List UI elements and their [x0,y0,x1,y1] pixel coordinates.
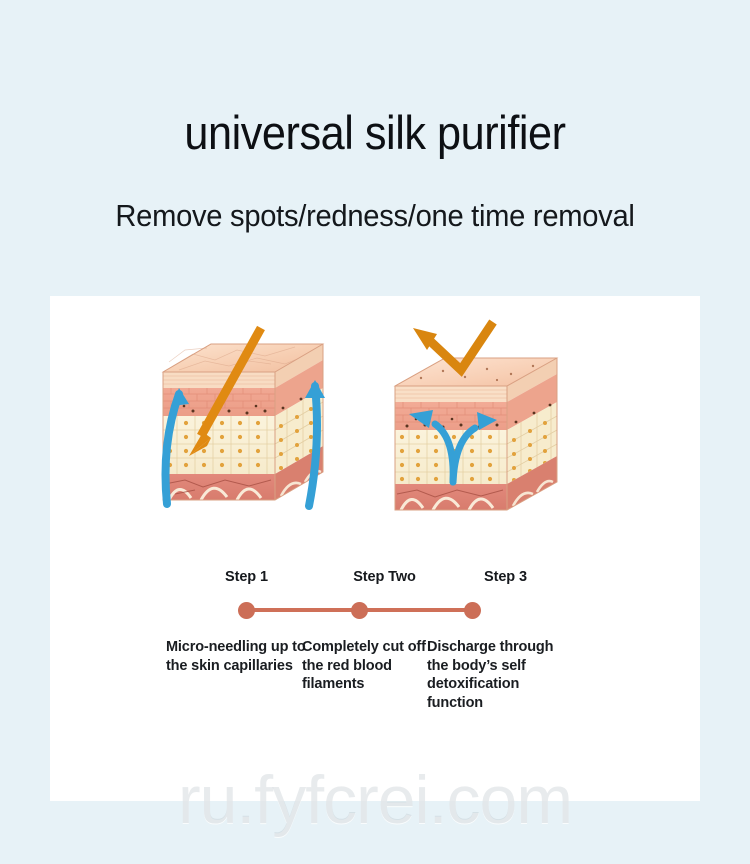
step-description-3: Discharge through the body’s self detoxi… [427,638,570,712]
steps-timeline: Step 1 Micro-needling up to the skin cap… [50,568,700,748]
timeline-dot-2 [351,602,368,619]
content-card: Step 1 Micro-needling up to the skin cap… [50,296,700,801]
diagram-row [50,296,700,551]
step-description-1: Micro-needling up to the skin capillarie… [166,638,309,675]
step-label-3: Step 3 [423,568,588,586]
timeline-dot-1 [238,602,255,619]
skin-deflection-diagram [385,314,585,529]
skin-deflection-illustration [385,314,585,529]
page-subtitle: Remove spots/redness/one time removal [23,197,728,235]
product-detail-page: universal silk purifier Remove spots/red… [0,0,750,864]
timeline-dot-3 [464,602,481,619]
skin-penetration-illustration [145,314,345,529]
page-title: universal silk purifier [30,104,720,162]
skin-penetration-diagram [145,314,345,529]
step-description-2: Completely cut off the red blood filamen… [302,638,445,694]
